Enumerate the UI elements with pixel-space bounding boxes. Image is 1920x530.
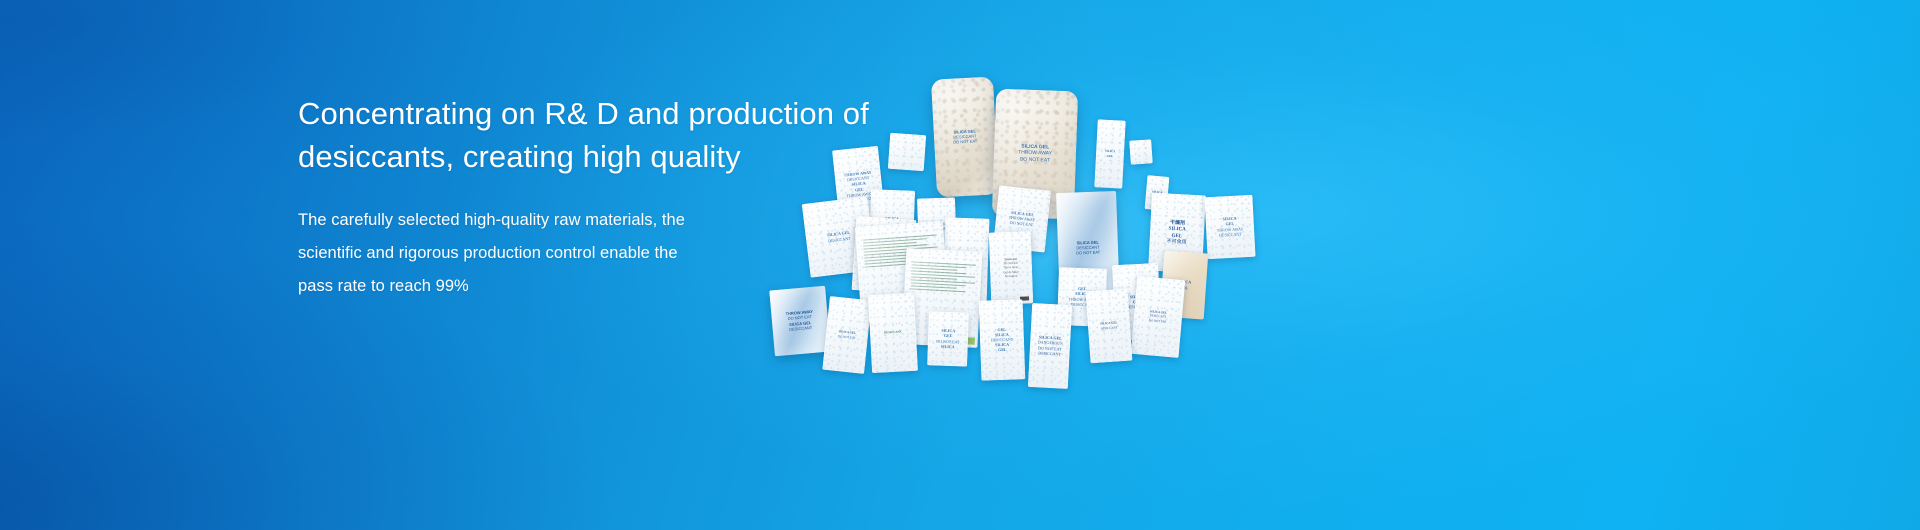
desiccant-packet: SILICA GELDANGEROUSDO NOT EATDESICCANT: [1028, 303, 1072, 389]
packet-printed-text: SILICAGEL: [1094, 119, 1126, 188]
desiccant-packet: SILICAGELTHROW AWAYDESICCANT: [1204, 195, 1255, 259]
description-line-2: scientific and rigorous production contr…: [298, 237, 798, 270]
headline-line-2: desiccants, creating high quality: [298, 135, 958, 178]
desiccant-packet: GELSILICADESICCANTSILICAGEL: [979, 299, 1026, 380]
description-line-1: The carefully selected high-quality raw …: [298, 204, 798, 237]
hero-description: The carefully selected high-quality raw …: [298, 204, 798, 303]
page-title: Concentrating on R& D and production of …: [298, 92, 958, 178]
desiccant-packet: SILICA GELDESICCANTDO NOT EAT: [1131, 276, 1186, 358]
desiccant-packet: [1129, 139, 1153, 164]
packet-printed-text: SILICA GELDESICCANT: [1086, 289, 1133, 364]
headline-line-1: Concentrating on R& D and production of: [298, 92, 958, 135]
desiccant-packet: SILICAGEL: [1094, 119, 1126, 188]
packet-highlight-sheen: [1129, 139, 1153, 164]
description-line-3: pass rate to reach 99%: [298, 270, 798, 303]
packet-printed-text: SILICAGELDO NOT EATSILICA: [927, 311, 969, 366]
packet-printed-text: SILICAGELTHROW AWAYDESICCANT: [1204, 195, 1255, 259]
desiccant-packet: SILICA GELDESICCANT: [1086, 289, 1133, 364]
hero-banner: THROW AWAYDESICCANTSILICAGELTHROW AWAYDO…: [0, 0, 1920, 530]
desiccant-packet: DESICCANT: [868, 293, 918, 373]
hero-copy-block: Concentrating on R& D and production of …: [298, 92, 998, 303]
packet-printed-text: GELSILICADESICCANTSILICAGEL: [979, 299, 1026, 380]
desiccant-packet: SILICA GELDO NOT EAT: [822, 296, 872, 374]
desiccant-packet: SILICAGELDO NOT EATSILICA: [927, 311, 969, 366]
packet-printed-text: SILICA GELDANGEROUSDO NOT EATDESICCANT: [1028, 303, 1072, 389]
packet-printed-text: DESICCANT: [868, 293, 918, 373]
packet-printed-text: SILICA GELDESICCANTDO NOT EAT: [1131, 276, 1186, 358]
packet-printed-text: SILICA GELDO NOT EAT: [822, 296, 872, 374]
